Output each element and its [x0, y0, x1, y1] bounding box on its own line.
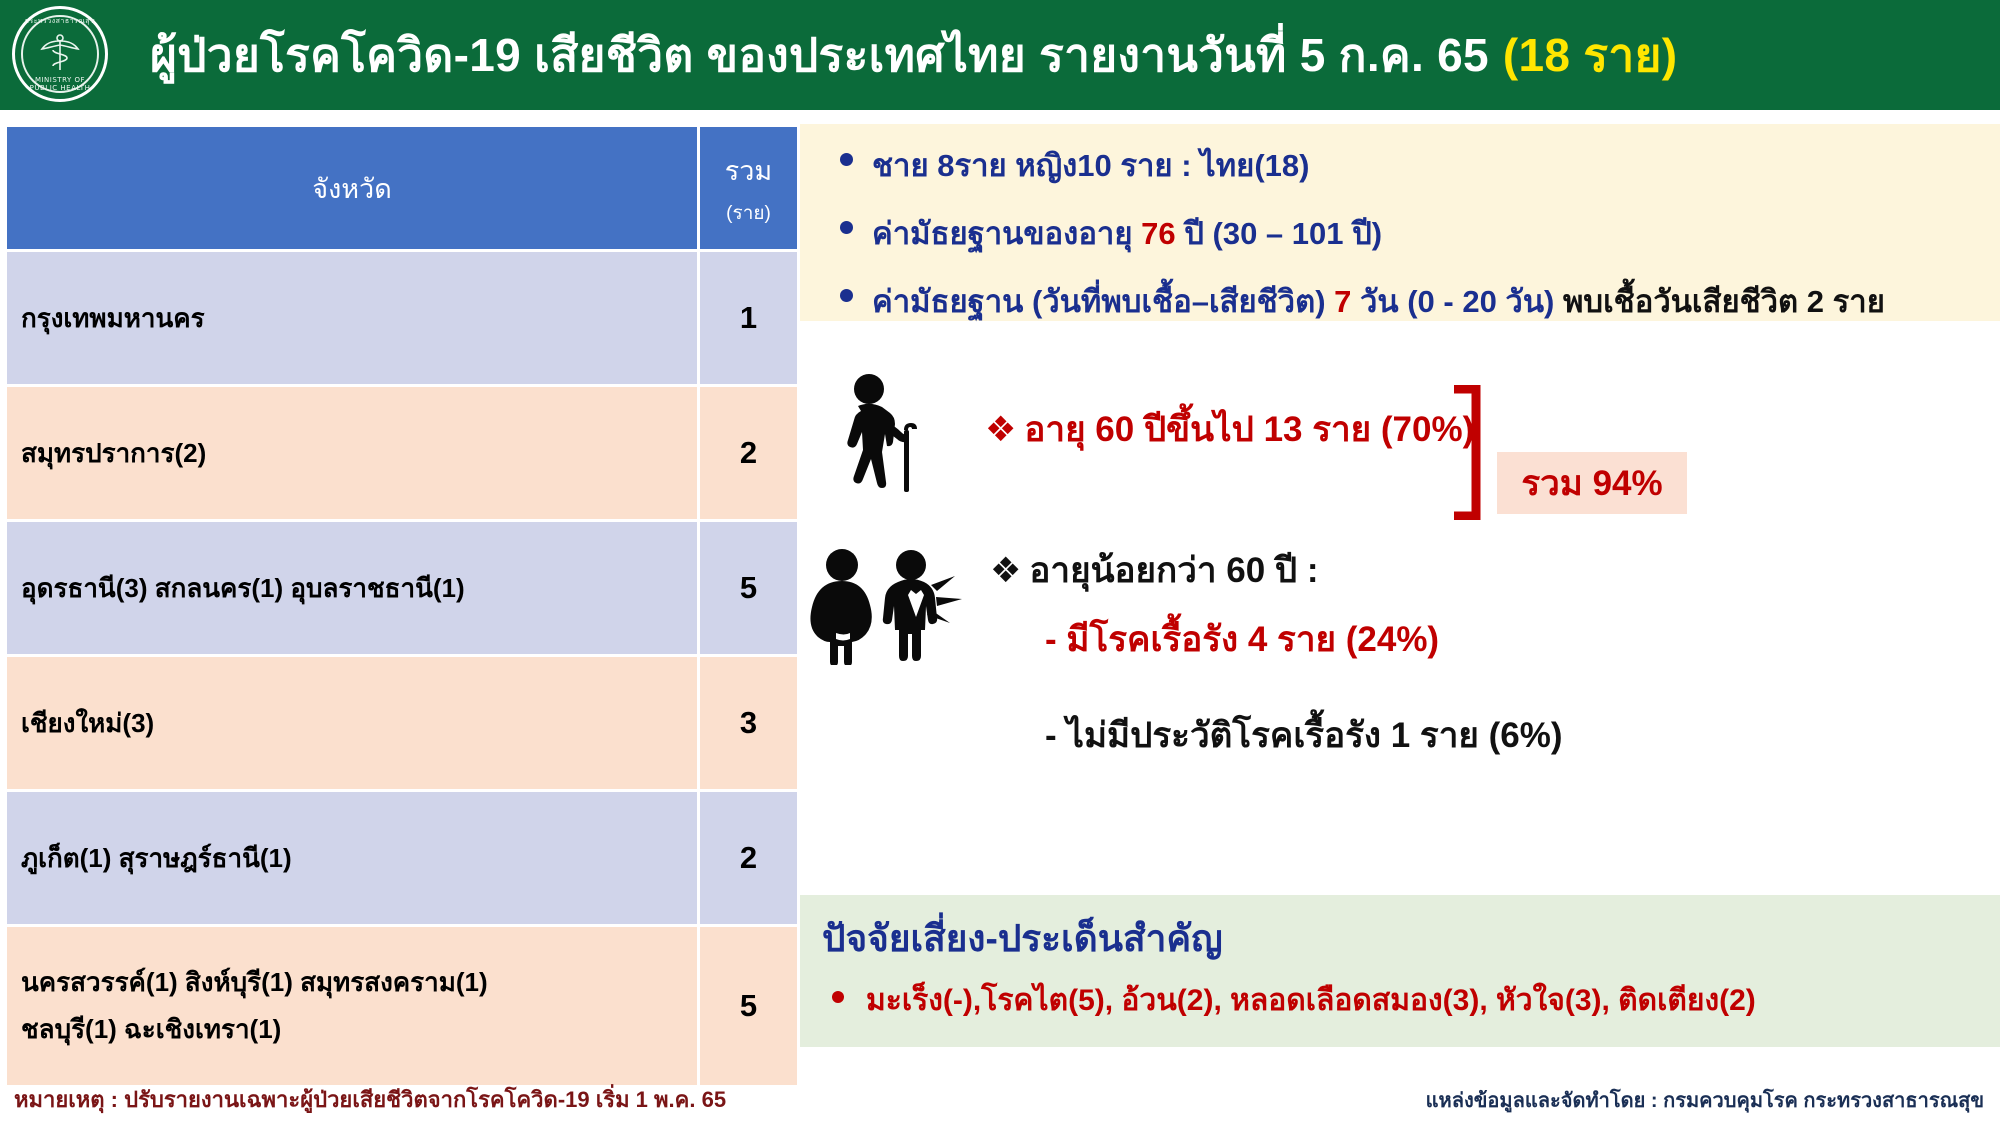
cell-province: อุดรธานี(3) สกลนคร(1) อุบลราชธานี(1) [7, 522, 697, 654]
cell-total: 1 [700, 252, 797, 384]
summary-text: ชาย 8ราย หญิง10 ราย : ไทย(18) [872, 148, 1309, 183]
table-row: อุดรธานี(3) สกลนคร(1) อุบลราชธานี(1) 5 [7, 522, 797, 654]
column-header-total-unit: (ราย) [700, 198, 797, 228]
risk-factors-box: ปัจจัยเสี่ยง-ประเด็นสำคัญ มะเร็ง(-),โรคไ… [800, 895, 2000, 1047]
bullet-dot-icon [840, 221, 853, 234]
cell-province: นครสวรรค์(1) สิงห์บุรี(1) สมุทรสงคราม(1)… [7, 927, 697, 1085]
summary-text-cont: วัน (0 - 20 วัน) [1351, 284, 1563, 319]
province-name: เชียงใหม่(3) [21, 708, 154, 738]
page-title-count: (18 ราย) [1503, 19, 1677, 92]
no-chronic-disease-line: - ไม่มีประวัติโรคเรื้อรัง 1 ราย (6%) [1045, 708, 1563, 763]
risk-factors-title: ปัจจัยเสี่ยง-ประเด็นสำคัญ [822, 909, 1223, 968]
summary-accent-value: 7 [1334, 284, 1351, 319]
age-under-60-label-line: ❖อายุน้อยกว่า 60 ปี : [990, 543, 1319, 598]
footer-source: แหล่งข้อมูลและจัดทำโดย : กรมควบคุมโรค กร… [1426, 1084, 1984, 1116]
obese-person-and-chest-pain-person-icon [800, 545, 965, 665]
province-name: สมุทรปราการ(2) [21, 438, 206, 468]
diamond-bullet-icon: ❖ [985, 410, 1016, 449]
cell-total: 3 [700, 657, 797, 789]
table-row: ภูเก็ต(1) สุราษฎร์ธานี(1) 2 [7, 792, 797, 924]
cell-province: เชียงใหม่(3) [7, 657, 697, 789]
summary-bullet-list: ชาย 8ราย หญิง10 ราย : ไทย(18) ค่ามัธยฐาน… [800, 124, 2000, 326]
column-header-total-label: รวม [725, 156, 772, 186]
summary-text: ค่ามัธยฐาน (วันที่พบเชื้อ–เสียชีวิต) [872, 284, 1334, 319]
table-row: เชียงใหม่(3) 3 [7, 657, 797, 789]
province-deaths-table: จังหวัด รวม (ราย) กรุงเทพมหานคร 1 สมุทรป… [4, 124, 800, 1088]
ministry-of-public-health-logo: กระทรวงสาธารณสุข MINISTRY OF PUBLIC HEAL… [12, 6, 108, 102]
logo-arc-bottom-text: MINISTRY OF PUBLIC HEALTH [23, 76, 97, 92]
diamond-bullet-icon: ❖ [990, 551, 1021, 590]
page-title: ผู้ป่วยโรคโควิด-19 เสียชีวิต ของประเทศไท… [150, 0, 1677, 110]
page-title-main: ผู้ป่วยโรคโควิด-19 เสียชีวิต ของประเทศไท… [150, 19, 1489, 92]
summary-statistics-box: ชาย 8ราย หญิง10 ราย : ไทย(18) ค่ามัธยฐาน… [800, 124, 2000, 321]
grouping-bracket-icon [1450, 385, 1490, 520]
province-name: นครสวรรค์(1) สิงห์บุรี(1) สมุทรสงคราม(1) [21, 967, 488, 997]
age-60-plus-text: อายุ 60 ปีขึ้นไป 13 ราย (70%) [1024, 410, 1474, 449]
province-name: ภูเก็ต(1) สุราษฎร์ธานี(1) [21, 843, 292, 873]
bullet-dot-icon [840, 289, 853, 302]
chronic-disease-line: - มีโรคเรื้อรัง 4 ราย (24%) [1045, 612, 1439, 667]
province-name-line2: ชลบุรี(1) ฉะเชิงเทรา(1) [21, 1009, 683, 1050]
column-header-total: รวม (ราย) [700, 127, 797, 249]
summary-text: ค่ามัธยฐานของอายุ [872, 216, 1141, 251]
province-name: กรุงเทพมหานคร [21, 303, 205, 333]
cell-total: 5 [700, 927, 797, 1085]
cell-province: สมุทรปราการ(2) [7, 387, 697, 519]
total-percentage-badge: รวม 94% [1497, 452, 1687, 514]
summary-text-tail: พบเชื้อวันเสียชีวิต 2 ราย [1563, 284, 1885, 319]
age-under-60-text: อายุน้อยกว่า 60 ปี : [1029, 551, 1318, 590]
column-header-province: จังหวัด [7, 127, 697, 249]
cell-province: ภูเก็ต(1) สุราษฎร์ธานี(1) [7, 792, 697, 924]
summary-text-cont: ปี (30 – 101 ปี) [1176, 216, 1383, 251]
province-name: อุดรธานี(3) สกลนคร(1) อุบลราชธานี(1) [21, 573, 465, 603]
summary-bullet-sex-nationality: ชาย 8ราย หญิง10 ราย : ไทย(18) [800, 140, 2000, 190]
summary-accent-value: 76 [1141, 216, 1175, 251]
province-table-wrapper: จังหวัด รวม (ราย) กรุงเทพมหานคร 1 สมุทรป… [4, 124, 794, 1088]
table-row: สมุทรปราการ(2) 2 [7, 387, 797, 519]
footer-note: หมายเหตุ : ปรับรายงานเฉพาะผู้ป่วยเสียชีว… [14, 1082, 726, 1117]
summary-bullet-median-age: ค่ามัธยฐานของอายุ 76 ปี (30 – 101 ปี) [800, 208, 2000, 258]
cell-total: 2 [700, 792, 797, 924]
cell-province: กรุงเทพมหานคร [7, 252, 697, 384]
caduceus-icon [38, 32, 82, 76]
table-row: กรุงเทพมหานคร 1 [7, 252, 797, 384]
summary-bullet-median-days: ค่ามัธยฐาน (วันที่พบเชื้อ–เสียชีวิต) 7 ว… [800, 276, 2000, 326]
page-header: กระทรวงสาธารณสุข MINISTRY OF PUBLIC HEAL… [0, 0, 2000, 110]
logo-ring: กระทรวงสาธารณสุข MINISTRY OF PUBLIC HEAL… [21, 15, 99, 93]
table-row: นครสวรรค์(1) สิงห์บุรี(1) สมุทรสงคราม(1)… [7, 927, 797, 1085]
age-60-plus-line: ❖อายุ 60 ปีขึ้นไป 13 ราย (70%) [985, 402, 1474, 457]
table-header-row: จังหวัด รวม (ราย) [7, 127, 797, 249]
age-breakdown-section: ❖อายุ 60 ปีขึ้นไป 13 ราย (70%) ❖อายุน้อย… [800, 340, 2000, 880]
logo-arc-top-text: กระทรวงสาธารณสุข [23, 16, 97, 27]
elderly-person-with-cane-icon [812, 372, 942, 497]
bullet-dot-icon [832, 991, 844, 1003]
bullet-dot-icon [840, 153, 853, 166]
risk-factors-item: มะเร็ง(-),โรคไต(5), อ้วน(2), หลอดเลือดสม… [866, 977, 1756, 1024]
cell-total: 2 [700, 387, 797, 519]
cell-total: 5 [700, 522, 797, 654]
